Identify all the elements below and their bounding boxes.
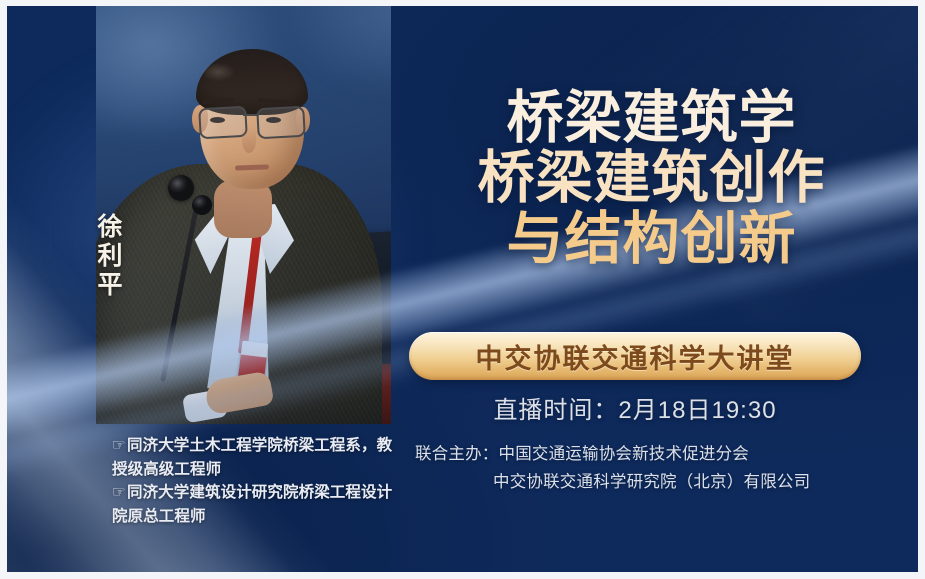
speaker-photo <box>96 6 391 424</box>
live-event-poster: 徐利平 ☞同济大学土木工程学院桥梁工程系，教授级高级工程师 ☞同济大学建筑设计研… <box>0 0 925 579</box>
pointing-hand-icon-2: ☞ <box>112 484 126 501</box>
speaker-bio-line-1-text: 同济大学土木工程学院桥梁工程系，教授级高级工程师 <box>112 437 392 478</box>
host-line-2: 中交协联交通科学研究院（北京）有限公司 <box>415 468 885 496</box>
photo-shading-overlay <box>96 6 391 424</box>
speaker-bio-line-2: ☞同济大学建筑设计研究院桥梁工程设计院原总工程师 <box>112 481 397 528</box>
poster-title: 桥梁建筑学 桥梁建筑创作 与结构创新 <box>395 88 908 269</box>
speaker-bio-line-1: ☞同济大学土木工程学院桥梁工程系，教授级高级工程师 <box>112 434 397 481</box>
poster-stage: 徐利平 ☞同济大学土木工程学院桥梁工程系，教授级高级工程师 ☞同济大学建筑设计研… <box>7 6 918 572</box>
poster-right-column: 桥梁建筑学 桥梁建筑创作 与结构创新 中交协联交通科学大讲堂 直播时间：2月18… <box>395 6 918 572</box>
live-time: 直播时间：2月18日19:30 <box>409 390 861 425</box>
series-badge-label: 中交协联交通科学大讲堂 <box>476 337 795 376</box>
speaker-name: 徐利平 <box>91 213 121 300</box>
speaker-bio: ☞同济大学土木工程学院桥梁工程系，教授级高级工程师 ☞同济大学建筑设计研究院桥梁… <box>112 434 397 528</box>
poster-title-line-1: 桥梁建筑学 <box>395 88 908 148</box>
poster-title-line-3: 与结构创新 <box>395 209 908 269</box>
poster-title-line-2: 桥梁建筑创作 <box>395 148 908 208</box>
pointing-hand-icon: ☞ <box>112 437 126 454</box>
speaker-bio-line-2-text: 同济大学建筑设计研究院桥梁工程设计院原总工程师 <box>112 484 392 525</box>
host-organizations: 联合主办：中国交通运输协会新技术促进分会 中交协联交通科学研究院（北京）有限公司 <box>415 440 885 497</box>
host-line-1: 联合主办：中国交通运输协会新技术促进分会 <box>415 440 885 468</box>
series-badge: 中交协联交通科学大讲堂 <box>409 332 861 380</box>
